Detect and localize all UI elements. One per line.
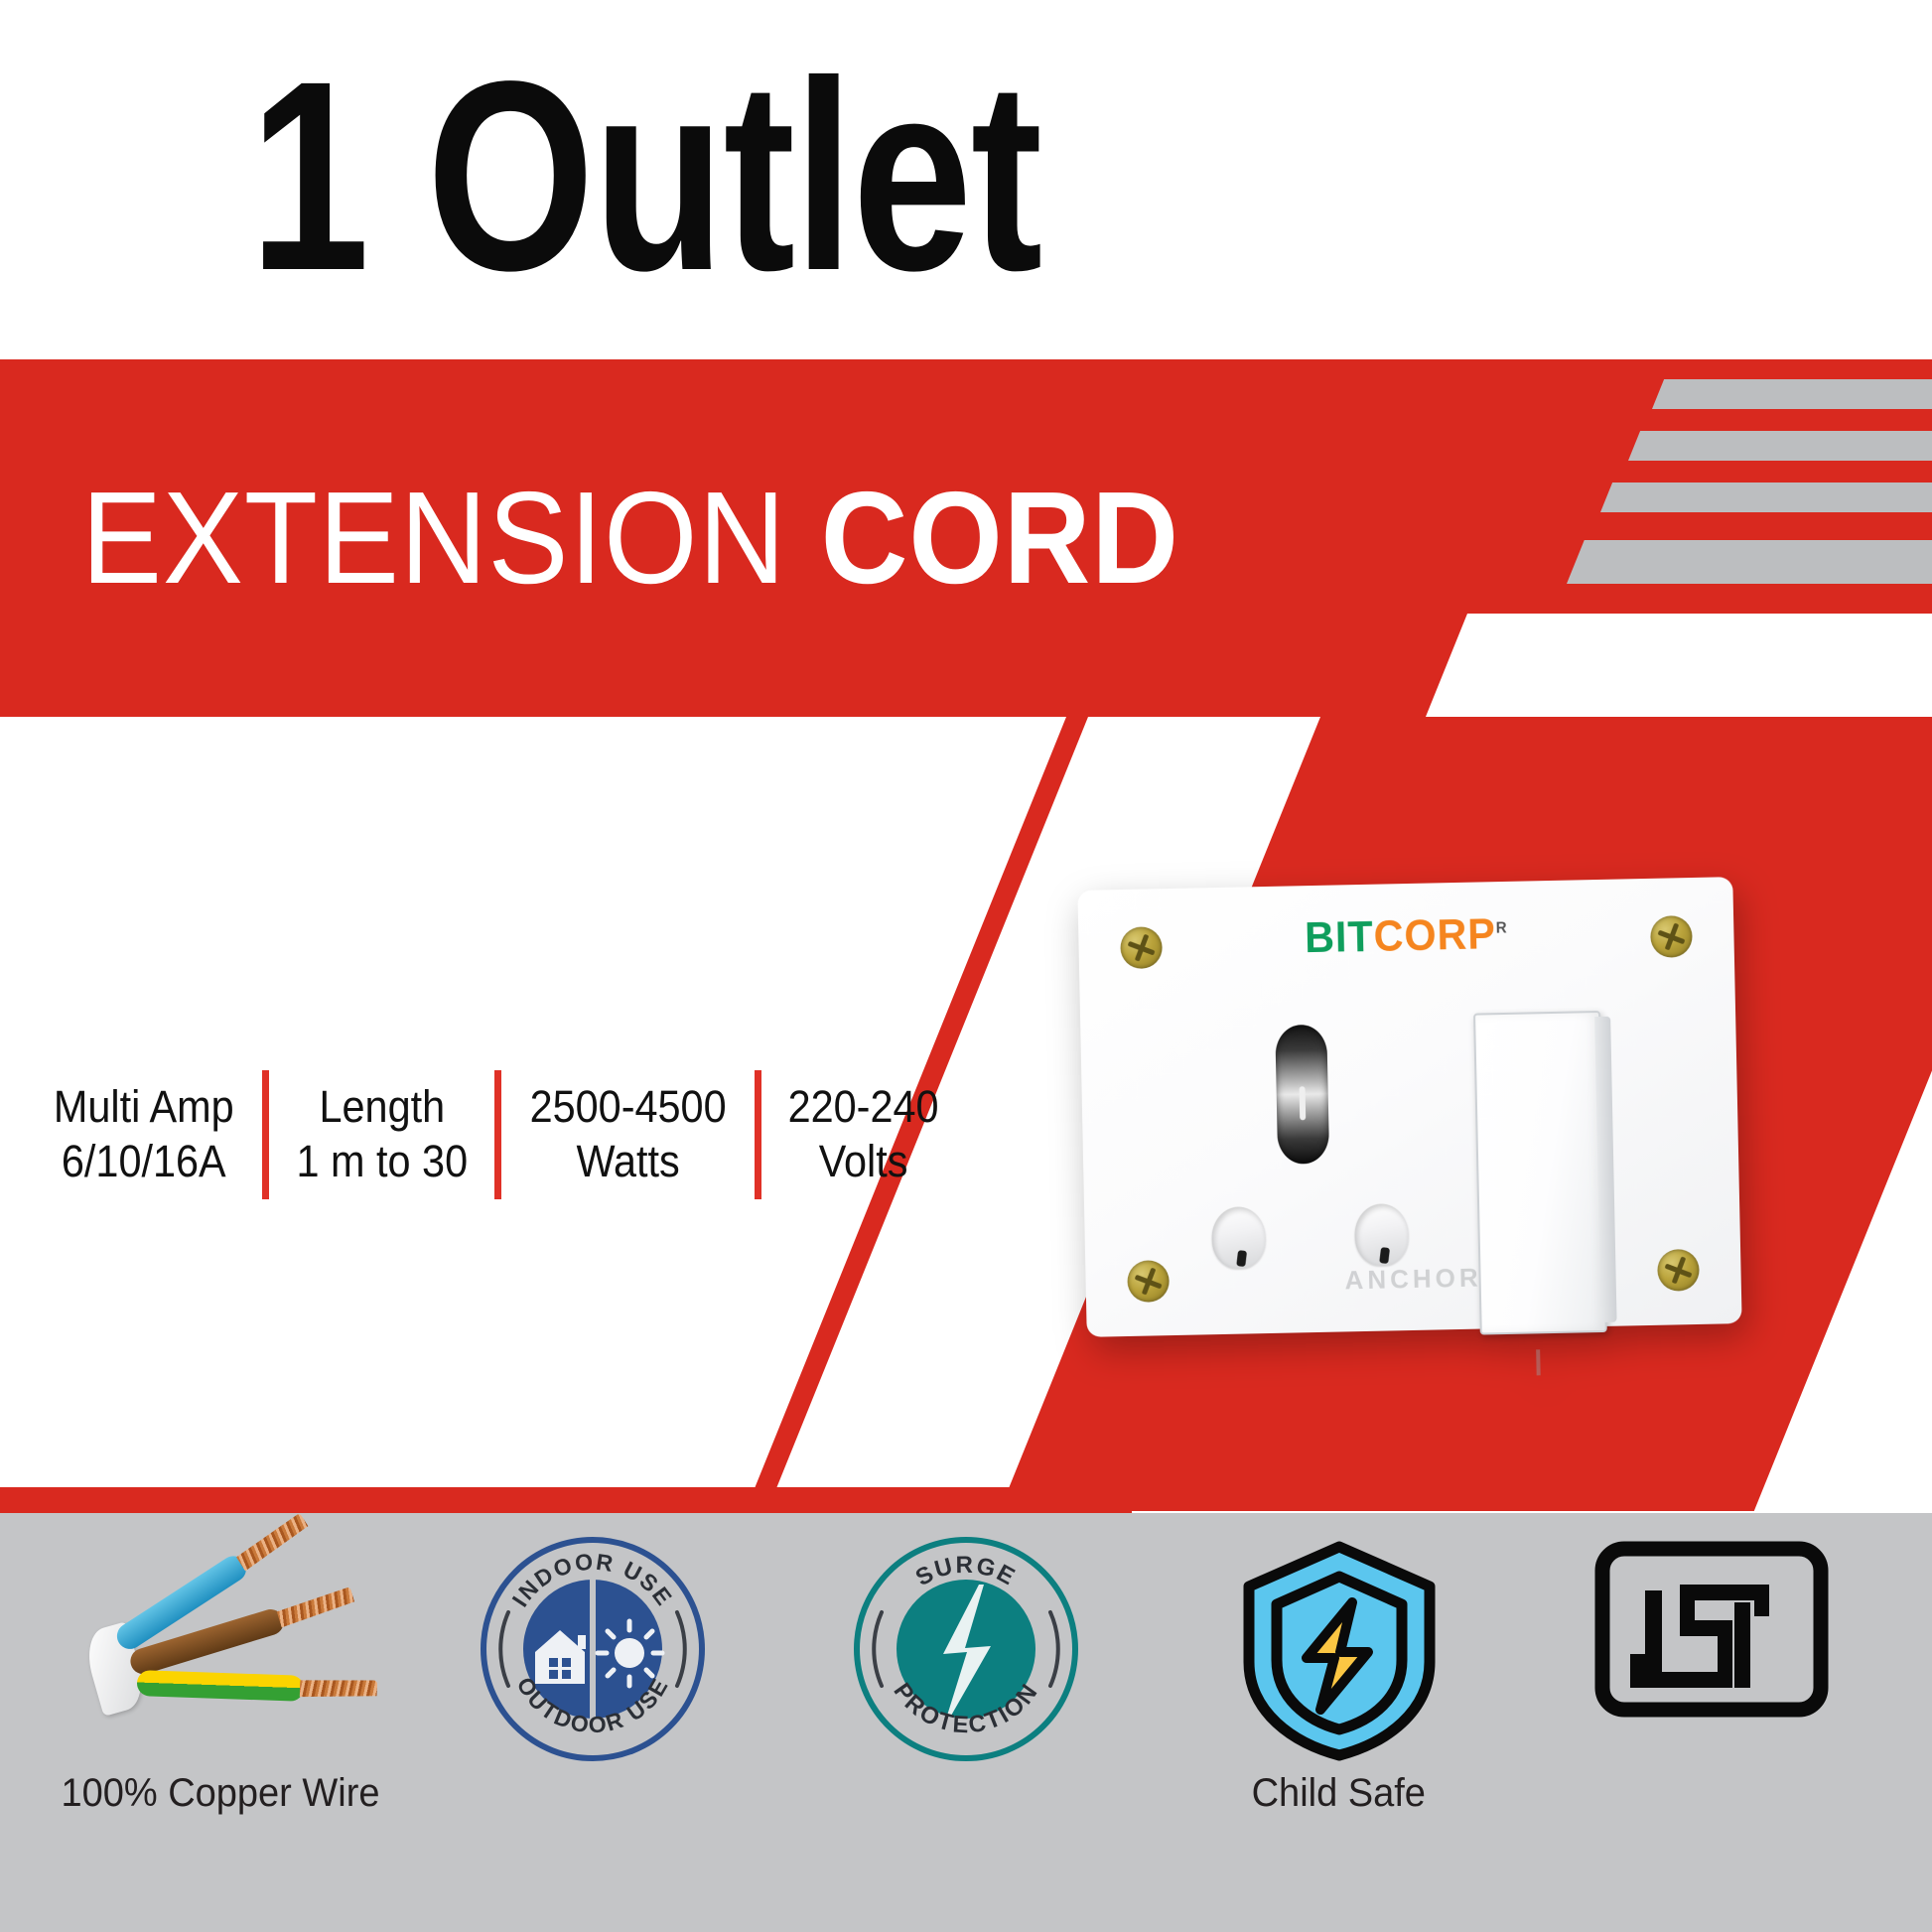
brand-logo-part2: CORP xyxy=(1373,909,1496,961)
badge-list: 100% Copper Wire xyxy=(0,1513,1932,1932)
shield-icon xyxy=(1235,1535,1444,1763)
badge-isi-mark xyxy=(1553,1535,1870,1731)
copper-strands-earth xyxy=(299,1678,377,1703)
spec-watts-line2: Watts xyxy=(577,1135,680,1189)
red-baseline-bar xyxy=(0,1487,1132,1513)
badge-indoor-outdoor: INDOOR USE OUTDOOR USE xyxy=(434,1535,752,1771)
banner-title-light: EXTENSION xyxy=(81,465,786,611)
earth-pin-hole xyxy=(1275,1025,1329,1165)
product-socket-plate: BITCORPR ANCHOR xyxy=(1077,877,1741,1337)
banner-white-wedge xyxy=(1420,614,1932,717)
copper-strands-brown xyxy=(276,1587,356,1630)
spec-row: Multi Amp 6/10/16A Length 1 m to 30 2500… xyxy=(28,1070,964,1199)
live-pin-hole xyxy=(1211,1206,1266,1269)
badge-child-safe: Child Safe xyxy=(1180,1535,1498,1816)
spec-cell-watts: 2500-4500 Watts xyxy=(513,1070,743,1199)
spec-volts-line1: 220-240 xyxy=(788,1080,939,1135)
brand-logo-part1: BIT xyxy=(1305,912,1374,962)
spec-watts-line1: 2500-4500 xyxy=(530,1080,727,1135)
spec-length-line2: 1 m to 30 xyxy=(296,1135,468,1189)
spec-length-line1: Length xyxy=(319,1080,445,1135)
neutral-pin-hole xyxy=(1354,1203,1409,1266)
spec-cell-volts: 220-240 Volts xyxy=(771,1070,955,1199)
rocker-switch-tick xyxy=(1536,1349,1541,1375)
badge-copper-wire: 100% Copper Wire xyxy=(62,1535,379,1816)
indoor-outdoor-icon: INDOOR USE OUTDOOR USE xyxy=(479,1535,707,1763)
badge-caption-copper: 100% Copper Wire xyxy=(61,1771,379,1816)
spec-cell-amp: Multi Amp 6/10/16A xyxy=(37,1070,250,1199)
spec-volts-line2: Volts xyxy=(819,1135,908,1189)
spec-divider-1 xyxy=(262,1070,269,1199)
product-poster: 1 Outlet EXTENSION CORD Multi Amp 6/10/1… xyxy=(0,0,1932,1932)
badge-caption-child-safe: Child Safe xyxy=(1252,1771,1426,1816)
decorative-stripe-3 xyxy=(1600,483,1932,512)
banner-title-bold: CORD xyxy=(786,465,1179,611)
decorative-stripe-4 xyxy=(1567,540,1932,584)
copper-wire-icon xyxy=(71,1535,369,1763)
spec-divider-3 xyxy=(755,1070,761,1199)
spec-divider-2 xyxy=(494,1070,501,1199)
spec-cell-length: Length 1 m to 30 xyxy=(280,1070,484,1199)
surge-protection-icon: SURGE PROTECTION xyxy=(852,1535,1080,1763)
banner-title: EXTENSION CORD xyxy=(81,473,1179,604)
isi-mark-icon xyxy=(1592,1535,1831,1724)
spec-amp-line2: 6/10/16A xyxy=(62,1135,226,1189)
feature-badge-band: 100% Copper Wire xyxy=(0,1513,1932,1932)
decorative-stripe-1 xyxy=(1652,379,1932,409)
wire-green-yellow xyxy=(136,1670,304,1702)
registered-mark-icon: R xyxy=(1496,919,1508,936)
page-title: 1 Outlet xyxy=(129,12,1162,340)
copper-strands-blue xyxy=(234,1513,311,1574)
banner: EXTENSION CORD xyxy=(0,359,1932,717)
badge-surge-protection: SURGE PROTECTION xyxy=(807,1535,1125,1771)
decorative-stripe-2 xyxy=(1628,431,1932,461)
spec-amp-line1: Multi Amp xyxy=(54,1080,234,1135)
